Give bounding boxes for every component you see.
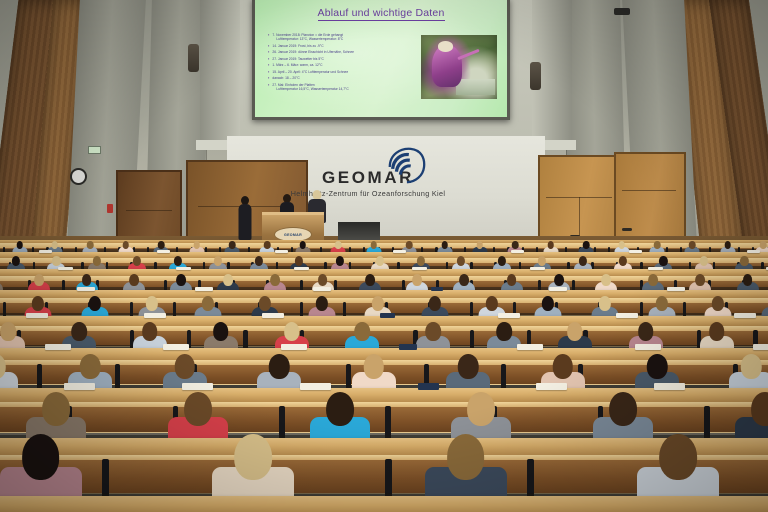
- audience-head: [547, 241, 554, 249]
- paper-on-desk: [412, 267, 427, 271]
- slide-bullet: ▪7. November 2018: Plancton = die Erde g…: [268, 33, 418, 42]
- audience-head: [122, 241, 129, 249]
- bullet-subtext: Lufttemperatur 16,5°C, Wassertemperatur …: [272, 87, 348, 91]
- audience-head: [0, 322, 16, 341]
- audience-member: [761, 296, 768, 319]
- paper-on-desk: [734, 313, 756, 318]
- audience-head: [42, 392, 70, 426]
- laptop-on-desk: [399, 344, 417, 350]
- audience-member: [421, 296, 448, 319]
- paper-on-desk: [511, 250, 524, 253]
- audience-head: [87, 241, 94, 249]
- paper-on-desk: [144, 313, 166, 318]
- bullet-marker: ▪: [268, 83, 269, 92]
- paper-on-desk: [747, 250, 760, 253]
- audience-head: [129, 274, 139, 286]
- audience-head: [485, 296, 497, 311]
- slide-photo-water: [456, 79, 496, 96]
- paper-on-desk: [654, 383, 685, 390]
- audience-head: [175, 354, 196, 379]
- audience-head: [335, 241, 342, 249]
- audience-head: [71, 322, 87, 341]
- audience-head: [22, 434, 60, 480]
- paper-on-desk: [616, 313, 638, 318]
- wall-speaker-right-icon: [530, 62, 541, 90]
- audience-head: [538, 256, 546, 266]
- presenter-assistant-left: [236, 196, 254, 240]
- paper-on-desk: [163, 344, 189, 350]
- audience-head: [700, 256, 708, 266]
- audience-head: [412, 274, 422, 286]
- audience-head: [355, 322, 371, 341]
- bullet-text: 26. Januar 2019: dünne Eisschicht in Ufe…: [272, 50, 354, 54]
- audience-member: [133, 322, 167, 351]
- audience-head: [740, 256, 748, 266]
- laptop-on-desk: [431, 287, 443, 291]
- audience-member: [700, 322, 734, 351]
- audience-head: [363, 354, 384, 379]
- slide-bullet: ▪14. Januar 2019: Frost, bis zu -9°C: [268, 44, 418, 48]
- audience-head: [406, 241, 413, 249]
- audience-head: [601, 274, 611, 286]
- audience-head: [214, 256, 222, 266]
- audience-head: [176, 274, 186, 286]
- audience-head: [689, 241, 696, 249]
- paper-on-desk: [498, 313, 520, 318]
- audience-member: [81, 296, 108, 319]
- bullet-marker: ▪: [268, 44, 269, 48]
- audience-head: [441, 241, 448, 249]
- audience-head: [459, 274, 469, 286]
- paper-on-desk: [517, 344, 543, 350]
- audience-head: [447, 434, 485, 480]
- lecture-hall-photo: Ablauf und wichtige Daten ▪7. November 2…: [0, 0, 768, 512]
- bullet-subtext: Lufttemperatur: 13°C, Wassertemperatur: …: [272, 37, 343, 41]
- desk-surface: [0, 496, 768, 512]
- audience-head: [16, 241, 23, 249]
- audience-head: [659, 256, 667, 266]
- audience-head: [234, 434, 272, 480]
- slide-bullet-list: ▪7. November 2018: Plancton = die Erde g…: [268, 33, 418, 93]
- paper-on-desk: [39, 250, 52, 253]
- audience-head: [284, 322, 300, 341]
- audience-head: [315, 296, 327, 311]
- paper-on-desk: [157, 250, 170, 253]
- slide-bullet: ▪danach: 18 – 20°C: [268, 76, 418, 80]
- paper-on-desk: [77, 287, 95, 291]
- audience-member: [310, 392, 370, 443]
- laptop-on-desk: [380, 313, 395, 318]
- audience-head: [760, 241, 767, 249]
- bullet-marker: ▪: [268, 70, 269, 74]
- audience-member: [352, 354, 396, 392]
- audience-head: [370, 241, 377, 249]
- audience-member: [591, 296, 618, 319]
- audience-head: [477, 241, 484, 249]
- audience-head: [554, 274, 564, 286]
- audience-head: [654, 241, 661, 249]
- audience-head: [133, 256, 141, 266]
- audience-head: [725, 241, 732, 249]
- audience-head: [425, 322, 441, 341]
- audience-head: [429, 296, 441, 311]
- projection-screen: Ablauf und wichtige Daten ▪7. November 2…: [255, 0, 507, 117]
- lectern-badge-text: GEOMAR: [284, 233, 302, 237]
- slide-bullet: ▪1. März – 6. März: warm, ca. 12°C: [268, 63, 418, 67]
- audience-member: [705, 296, 732, 319]
- audience-head: [271, 274, 281, 286]
- audience-head: [655, 296, 667, 311]
- audience-head: [599, 296, 611, 311]
- slide-bullet: ▪26. Januar 2019: dünne Eisschicht in Uf…: [268, 50, 418, 54]
- audience-head: [223, 274, 233, 286]
- wall-speaker-left-icon: [188, 44, 199, 72]
- bullet-marker: ▪: [268, 50, 269, 54]
- audience-head: [648, 274, 658, 286]
- audience-head: [145, 296, 157, 311]
- audience-head: [326, 392, 354, 426]
- audience-head: [255, 256, 263, 266]
- paper-on-desk: [313, 287, 331, 291]
- paper-on-desk: [195, 287, 213, 291]
- audience-head: [336, 256, 344, 266]
- audience-head: [583, 241, 590, 249]
- paper-on-desk: [58, 267, 73, 271]
- bullet-marker: ▪: [268, 76, 269, 80]
- paper-on-desk: [26, 313, 48, 318]
- audience-member: [0, 322, 25, 351]
- audience-head: [712, 296, 724, 311]
- audience-head: [512, 241, 519, 249]
- paper-on-desk: [275, 250, 288, 253]
- audience-head: [372, 296, 384, 311]
- audience-head: [647, 354, 668, 379]
- audience-head: [507, 274, 517, 286]
- audience-head: [696, 274, 706, 286]
- paper-on-desk: [64, 383, 95, 390]
- audience-head: [741, 354, 762, 379]
- audience-head: [93, 256, 101, 266]
- audience-head: [259, 296, 271, 311]
- audience-head: [264, 241, 271, 249]
- audience-head: [457, 256, 465, 266]
- geomar-wordmark: GEOMAR: [258, 168, 478, 188]
- audience-member: [257, 354, 301, 392]
- audience-head: [89, 296, 101, 311]
- paper-on-desk: [635, 344, 661, 350]
- audience-member: [212, 434, 294, 503]
- audience-head: [417, 256, 425, 266]
- paper-on-desk: [629, 250, 642, 253]
- audience-head: [578, 256, 586, 266]
- audience-head: [709, 322, 725, 341]
- audience-member: [0, 354, 18, 392]
- paper-on-desk: [300, 383, 331, 390]
- audience-head: [229, 241, 236, 249]
- audience-head: [751, 392, 768, 426]
- audience-head: [80, 354, 101, 379]
- audience-head: [300, 241, 307, 249]
- audience-member: [345, 322, 379, 351]
- audience-head: [12, 256, 20, 266]
- audience-head: [743, 274, 753, 286]
- bullet-marker: ▪: [268, 63, 269, 67]
- audience-head: [318, 274, 328, 286]
- bullet-text: 1. März – 6. März: warm, ca. 12°C: [272, 63, 322, 67]
- audience-head: [82, 274, 92, 286]
- paper-on-desk: [294, 267, 309, 271]
- audience-head: [34, 274, 44, 286]
- slide-bullet: ▪27. Januar 2019: Tauwetter bis 5°C: [268, 57, 418, 61]
- paper-on-desk: [530, 267, 545, 271]
- paper-on-desk: [393, 250, 406, 253]
- paper-on-desk: [176, 267, 191, 271]
- bullet-text: 14. Januar 2019: Frost, bis zu -9°C: [272, 44, 323, 48]
- audience-head: [193, 241, 200, 249]
- audience-member: [637, 434, 719, 503]
- audience-member: [648, 296, 675, 319]
- slide-photo-arm: [458, 49, 480, 60]
- ceiling-speaker-icon: [614, 8, 630, 15]
- audience-member: [535, 296, 562, 319]
- paper-on-desk: [262, 313, 284, 318]
- audience-member: [0, 434, 82, 503]
- audience-member: [308, 296, 335, 319]
- audience-head: [158, 241, 165, 249]
- paper-on-desk: [549, 287, 567, 291]
- audience-member: [487, 322, 521, 351]
- paper-on-desk: [536, 383, 567, 390]
- audience-head: [376, 256, 384, 266]
- slide-bullet: ▪15. April – 20. April: 4°C Lufttemperat…: [268, 70, 418, 74]
- audience-member: [204, 322, 238, 351]
- audience-head: [52, 241, 59, 249]
- paper-on-desk: [648, 267, 663, 271]
- geomar-wave-logo-icon: [384, 146, 426, 186]
- slide-photo-head: [438, 41, 453, 51]
- wall-clock-left-icon: [70, 168, 87, 185]
- audience-head: [52, 256, 60, 266]
- slide-title-text: Ablauf und wichtige Daten: [318, 7, 445, 21]
- paper-on-desk: [281, 344, 307, 350]
- audience-head: [174, 256, 182, 266]
- audience-member: [729, 354, 768, 392]
- paper-on-desk: [45, 344, 71, 350]
- fire-alarm-left-icon: [107, 204, 113, 213]
- audience-member: [425, 434, 507, 503]
- audience-head: [619, 256, 627, 266]
- bullet-text: 15. April – 20. April: 4°C Lufttemperatu…: [272, 70, 348, 74]
- audience-head: [618, 241, 625, 249]
- bullet-marker: ▪: [268, 57, 269, 61]
- soffit-left: [200, 0, 240, 146]
- paper-on-desk: [667, 287, 685, 291]
- audience-member: [446, 354, 490, 392]
- audience-head: [542, 296, 554, 311]
- audience-head: [567, 322, 583, 341]
- auditorium-seating: [0, 240, 768, 512]
- audience-head: [638, 322, 654, 341]
- audience-head: [32, 296, 44, 311]
- audience-head: [213, 322, 229, 341]
- audience-head: [365, 274, 375, 286]
- bullet-text: 27. Januar 2019: Tauwetter bis 5°C: [272, 57, 323, 61]
- audience-head: [142, 322, 158, 341]
- bullet-marker: ▪: [268, 33, 269, 42]
- audience-head: [496, 322, 512, 341]
- paper-on-desk: [753, 344, 768, 350]
- audience-head: [184, 392, 212, 426]
- bullet-text: danach: 18 – 20°C: [272, 76, 299, 80]
- audience-member: [735, 392, 768, 443]
- exit-sign-left-icon: [88, 146, 101, 154]
- audience-head: [458, 354, 479, 379]
- audience-head: [467, 392, 495, 426]
- laptop-on-desk: [418, 383, 439, 390]
- audience-member: [195, 296, 222, 319]
- audience-head: [295, 256, 303, 266]
- paper-on-desk: [182, 383, 213, 390]
- slide-bullet: ▪27. Mai: Einholen der PlattenLufttemper…: [268, 83, 418, 92]
- slide-title: Ablauf und wichtige Daten: [255, 7, 507, 19]
- slide-photo: [421, 35, 497, 99]
- audience-head: [609, 392, 637, 426]
- audience-head: [269, 354, 290, 379]
- audience-head: [659, 434, 697, 480]
- audience-head: [497, 256, 505, 266]
- stage-side-table: [338, 222, 380, 240]
- audience-member: [558, 322, 592, 351]
- audience-head: [202, 296, 214, 311]
- audience-head: [552, 354, 573, 379]
- audience-member: [416, 322, 450, 351]
